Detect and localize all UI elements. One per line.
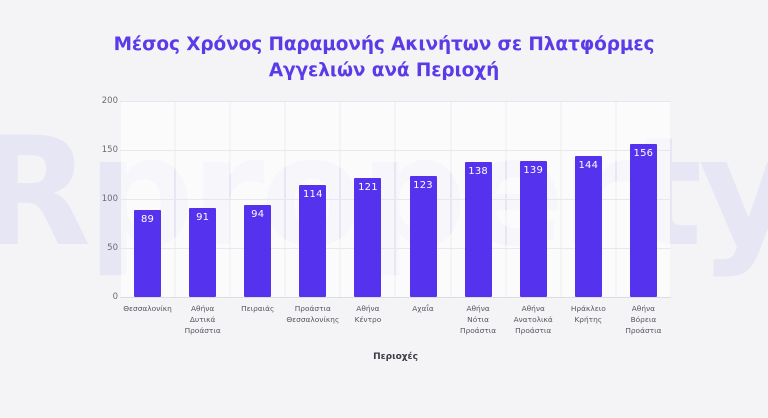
x-axis-labels: ΘεσσαλονίκηΑθήναΔυτικάΠροάστιαΠειραιάςΠρ… — [120, 303, 671, 336]
gridline — [120, 297, 671, 298]
x-axis-tick-label: ΑθήναΝότιαΠροάστια — [451, 303, 506, 336]
bar-slot: 139 — [506, 101, 561, 297]
x-axis-tick-label: Αχαΐα — [395, 303, 450, 336]
bar[interactable]: 138 — [465, 162, 492, 297]
x-axis-tick-label-line: Ανατολικά — [507, 314, 560, 325]
bar-value-label: 156 — [634, 148, 654, 159]
bar-value-label: 121 — [358, 182, 378, 193]
x-axis-tick-label-line: Αθήνα — [341, 303, 394, 314]
x-axis-tick-label-line: Προάστια — [507, 325, 560, 336]
chart-page: Rproperty Μέσος Χρόνος Παραμονής Ακινήτω… — [0, 0, 768, 418]
bar-slot: 123 — [395, 101, 450, 297]
bar-value-label: 144 — [578, 160, 598, 171]
x-axis-tick-label-line: Προάστια — [176, 325, 229, 336]
chart-title-line-1: Μέσος Χρόνος Παραμονής Ακινήτων σε Πλατφ… — [64, 32, 704, 58]
plot-area: 899194114121123138139144156 — [120, 101, 671, 297]
x-axis-tick-label-line: Θεσσαλονίκη — [121, 303, 174, 314]
x-axis-tick-label-line: Ηράκλειο — [562, 303, 615, 314]
x-axis-tick-label-line: Αθήνα — [617, 303, 670, 314]
chart-title-line-2: Αγγελιών ανά Περιοχή — [64, 58, 704, 84]
bar-value-label: 114 — [303, 189, 323, 200]
x-axis-tick-label: Πειραιάς — [230, 303, 285, 336]
bar-value-label: 94 — [251, 209, 264, 220]
x-axis-title: Περιοχές — [120, 352, 671, 362]
x-axis-tick-label: ΑθήναΚέντρο — [340, 303, 395, 336]
bar[interactable]: 139 — [520, 161, 547, 297]
bar-slot: 89 — [120, 101, 175, 297]
y-axis-tick: 0 — [113, 292, 118, 302]
y-axis-tick: 150 — [102, 145, 118, 155]
y-axis: 050100150200 — [92, 101, 118, 297]
bar[interactable]: 91 — [189, 208, 216, 297]
bar-slot: 138 — [451, 101, 506, 297]
chart-title: Μέσος Χρόνος Παραμονής Ακινήτων σε Πλατφ… — [64, 32, 704, 85]
x-axis-tick-label-line: Θεσσαλονίκης — [286, 314, 339, 325]
y-axis-tick: 50 — [107, 243, 118, 253]
x-axis-tick-label-line: Αχαΐα — [396, 303, 449, 314]
x-axis-tick-label-line: Πειραιάς — [231, 303, 284, 314]
x-axis-tick-label: ΠροάστιαΘεσσαλονίκης — [285, 303, 340, 336]
x-axis-tick-label: ΑθήναΒόρειαΠροάστια — [616, 303, 671, 336]
bar-value-label: 123 — [413, 180, 433, 191]
bar-slot: 121 — [340, 101, 395, 297]
bar-value-label: 138 — [468, 166, 488, 177]
x-axis-tick-label-line: Αθήνα — [176, 303, 229, 314]
x-axis-tick-label-line: Αθήνα — [452, 303, 505, 314]
x-axis-tick-label: ΑθήναΔυτικάΠροάστια — [175, 303, 230, 336]
x-axis-tick-label-line: Νότια — [452, 314, 505, 325]
bar[interactable]: 114 — [299, 185, 326, 297]
x-axis-tick-label: ΑθήναΑνατολικάΠροάστια — [506, 303, 561, 336]
bar[interactable]: 121 — [354, 178, 381, 297]
bar[interactable]: 144 — [575, 156, 602, 297]
bar-value-label: 91 — [196, 212, 209, 223]
bar-value-label: 139 — [523, 165, 543, 176]
x-axis-tick-label-line: Κρήτης — [562, 314, 615, 325]
x-axis-tick-label: Θεσσαλονίκη — [120, 303, 175, 336]
x-axis-tick-label-line: Προάστια — [286, 303, 339, 314]
bar-slot: 156 — [616, 101, 671, 297]
x-axis-tick-label-line: Προάστια — [617, 325, 670, 336]
bar[interactable]: 89 — [134, 210, 161, 297]
x-axis-tick-label-line: Προάστια — [452, 325, 505, 336]
x-axis-tick-label-line: Αθήνα — [507, 303, 560, 314]
y-axis-tick: 100 — [102, 194, 118, 204]
bar-slot: 91 — [175, 101, 230, 297]
x-axis-tick-label-line: Κέντρο — [341, 314, 394, 325]
x-axis-tick-label-line: Βόρεια — [617, 314, 670, 325]
bar-slot: 144 — [561, 101, 616, 297]
x-axis-tick-label: ΗράκλειοΚρήτης — [561, 303, 616, 336]
bar-slot: 94 — [230, 101, 285, 297]
bar-slot: 114 — [285, 101, 340, 297]
bar-series: 899194114121123138139144156 — [120, 101, 671, 297]
bar-value-label: 89 — [141, 214, 154, 225]
y-axis-tick: 200 — [102, 96, 118, 106]
bar[interactable]: 156 — [630, 144, 657, 297]
bar[interactable]: 123 — [410, 176, 437, 297]
bar[interactable]: 94 — [244, 205, 271, 297]
x-axis-tick-label-line: Δυτικά — [176, 314, 229, 325]
